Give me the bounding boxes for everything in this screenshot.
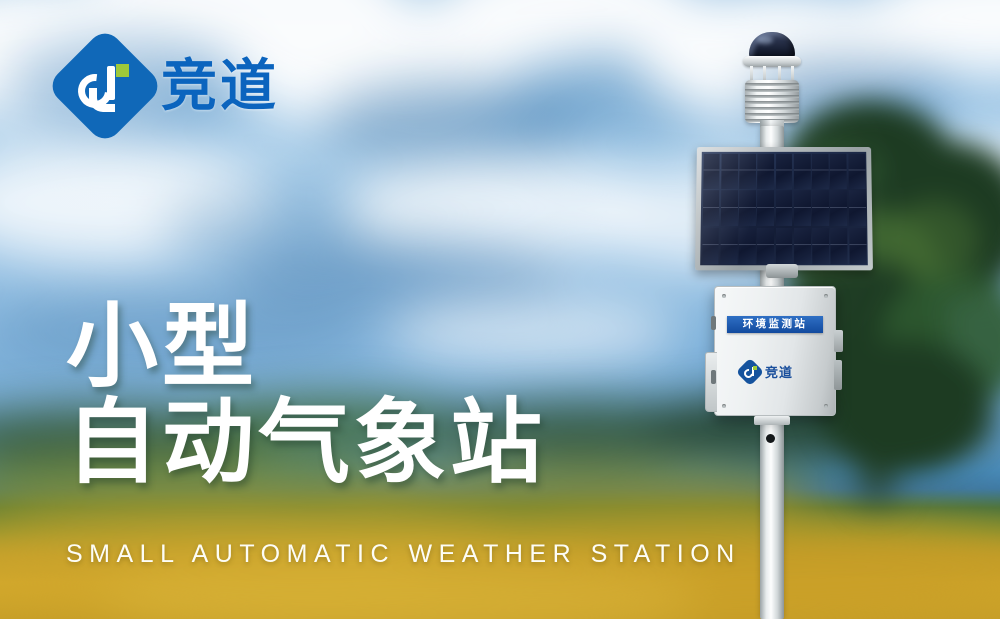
- solar-cell: [794, 190, 811, 226]
- solar-cell: [849, 227, 866, 263]
- headline-line-1: 小型: [66, 300, 546, 396]
- brand-name: 竞道: [161, 58, 279, 114]
- solar-cell: [812, 227, 829, 263]
- solar-cell: [702, 227, 719, 263]
- jingdao-small-logo-icon: [740, 362, 760, 382]
- solar-cell: [776, 153, 793, 188]
- solar-cell: [848, 153, 865, 188]
- solar-cell: [702, 190, 719, 226]
- controller-enclosure: 环境监测站 竞道: [714, 286, 836, 416]
- solar-cell: [757, 227, 774, 263]
- solar-cell: [849, 190, 866, 226]
- jingdao-diamond-logo-icon: [63, 44, 147, 128]
- enclosure-brand-logo: 竞道: [740, 362, 793, 382]
- sensor-dome: [749, 32, 795, 59]
- solar-cell: [830, 153, 847, 188]
- radiation-shield: [745, 80, 799, 123]
- solar-cell: [830, 190, 847, 226]
- solar-cell: [721, 190, 738, 226]
- solar-cell: [812, 190, 829, 226]
- solar-cell: [776, 227, 793, 263]
- enclosure-banner-label: 环境监测站: [727, 316, 823, 333]
- subtitle: SMALL AUTOMATIC WEATHER STATION: [66, 540, 741, 569]
- enclosure-banner-text: 环境监测站: [743, 319, 808, 330]
- solar-cell-grid: [700, 152, 868, 265]
- weather-station-device: 环境监测站 竞道: [694, 30, 874, 619]
- enclosure-brand-name: 竞道: [765, 366, 793, 379]
- solar-cell: [703, 153, 720, 188]
- solar-cell: [757, 153, 774, 188]
- page-title: 小型 自动气象站: [66, 300, 546, 491]
- solar-cell: [739, 227, 756, 263]
- pole-bolt: [766, 434, 775, 443]
- solar-cell: [831, 227, 848, 263]
- ultrasonic-weather-sensor-icon: [739, 30, 805, 134]
- solar-cell: [739, 190, 756, 226]
- solar-cell: [739, 153, 756, 188]
- solar-panel-mount: [766, 264, 798, 278]
- solar-cell: [794, 227, 811, 263]
- solar-cell: [721, 153, 738, 188]
- solar-cell: [776, 190, 793, 226]
- headline-line-2: 自动气象站: [66, 396, 546, 492]
- solar-panel-icon: [696, 146, 872, 270]
- product-promo-banner: 竞道 小型 自动气象站 SMALL AUTOMATIC WEATHER STAT…: [0, 0, 1000, 619]
- solar-cell: [720, 227, 737, 263]
- enclosure-pole-cap: [754, 416, 790, 425]
- solar-cell: [812, 153, 829, 188]
- solar-cell: [794, 153, 811, 188]
- brand-logo[interactable]: 竞道: [63, 44, 279, 128]
- solar-cell: [757, 190, 774, 226]
